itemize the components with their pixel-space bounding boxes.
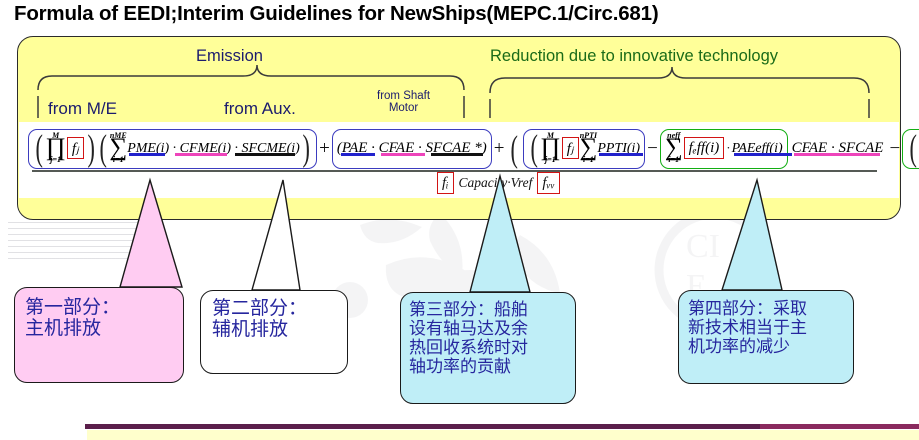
- callout-part-four: 第四部分：采取 新技术相当于主 机功率的减少: [678, 290, 854, 384]
- callout-part-four-line2: 新技术相当于主: [688, 318, 844, 337]
- underline-dots-me: [127, 153, 297, 156]
- term-innovative-eff: ( neff ∑ i=1 fₑff(i) · Peff(i) · CFME · …: [902, 129, 919, 169]
- group-paren-open: (: [506, 129, 522, 169]
- redbox-fj-pti: fⱼ: [562, 137, 579, 159]
- label-from-shaft-line2: Motor: [389, 102, 418, 114]
- term-main-engine: ( M ∏ j=1 fⱼ ) ( nME ∑ i=1 PME(i) · CFME…: [28, 129, 317, 169]
- slide-canvas: CI E Formula of EEDI;Interim Guidelines …: [0, 0, 919, 440]
- sum-operator-aeeff: neff ∑ i=1: [665, 132, 683, 164]
- callout-part-four-line3: 机功率的减少: [688, 337, 844, 356]
- redbox-fj-me: fⱼ: [67, 137, 84, 159]
- underline-dots-aeeff: [732, 153, 796, 156]
- callout-part-two-line1: 第二部分：: [212, 298, 336, 319]
- operator-plus-1: +: [317, 129, 332, 169]
- watermark-lines: [8, 222, 158, 262]
- callout-part-four-line1: 第四部分：采取: [688, 299, 844, 318]
- callout-part-three-line4: 轴功率的贡献: [409, 357, 567, 376]
- redbox-fw: fᵥᵥ: [537, 172, 560, 194]
- product-operator-me: M ∏ j=1: [45, 132, 66, 164]
- footer-yellow-strip: [87, 430, 919, 440]
- callout-part-one: 第一部分： 主机排放: [14, 287, 184, 383]
- formula-numerator: ( M ∏ j=1 fⱼ ) ( nME ∑ i=1 PME(i) · CFME…: [28, 126, 890, 171]
- sum-operator-pti: nPTI ∑ i=1: [580, 132, 598, 164]
- term-cfae-sfcae: CFAE · SFCAE: [788, 129, 888, 169]
- page-title: Formula of EEDI;Interim Guidelines for N…: [14, 2, 909, 26]
- callout-part-three-line3: 热回收系统时对: [409, 338, 567, 357]
- callout-part-two-line2: 辅机排放: [212, 319, 336, 340]
- label-from-me: from M/E: [48, 100, 117, 118]
- formula-denominator: fᵢ Capacity·Vref fᵥᵥ: [436, 173, 561, 193]
- svg-text:CI: CI: [686, 228, 720, 265]
- label-reduction: Reduction due to innovative technology: [490, 48, 778, 65]
- label-from-aux: from Aux.: [224, 100, 296, 118]
- callout-part-three-line2: 设有轴马达及余: [409, 319, 567, 338]
- callout-part-one-line2: 主机排放: [25, 318, 173, 339]
- label-from-shaft-line1: from Shaft: [377, 90, 430, 102]
- operator-minus-1: −: [645, 129, 660, 169]
- denominator-rest: Capacity·Vref: [459, 175, 533, 191]
- label-emission: Emission: [196, 48, 263, 65]
- term-ae-eff: neff ∑ i=1 fₑff(i) · PAEeff(i): [660, 129, 788, 169]
- underline-dots-aux: [337, 153, 487, 156]
- redbox-fi: fᵢ: [437, 172, 454, 194]
- callout-part-three: 第三部分：船舶 设有轴马达及余 热回收系统时对 轴功率的贡献: [400, 292, 576, 404]
- sum-operator-me: nME ∑ i=1: [109, 132, 127, 164]
- underline-dots-cfae: [792, 153, 884, 156]
- term-shaft-motor: ( M ∏ j=1 fⱼ nPTI ∑ i=1 PPTI(i): [523, 129, 645, 169]
- callout-part-one-line1: 第一部分：: [25, 297, 173, 318]
- label-from-shaft-motor: from Shaft Motor: [377, 90, 430, 114]
- operator-minus-2: −: [887, 129, 902, 169]
- product-operator-pti: M ∏ j=1: [540, 132, 561, 164]
- term-aux-engine: (PAE · CFAE · SFCAE *): [332, 129, 492, 169]
- underline-dots-pti: [597, 153, 647, 156]
- eedi-formula: ( M ∏ j=1 fⱼ ) ( nME ∑ i=1 PME(i) · CFME…: [28, 126, 890, 190]
- callout-part-two: 第二部分： 辅机排放: [200, 290, 348, 374]
- footer-bar-accent: [760, 424, 919, 429]
- operator-plus-2: +: [492, 129, 507, 169]
- fraction-bar: [32, 170, 877, 172]
- callout-part-three-line1: 第三部分：船舶: [409, 300, 567, 319]
- redbox-feff-aeeff: fₑff(i): [684, 137, 725, 159]
